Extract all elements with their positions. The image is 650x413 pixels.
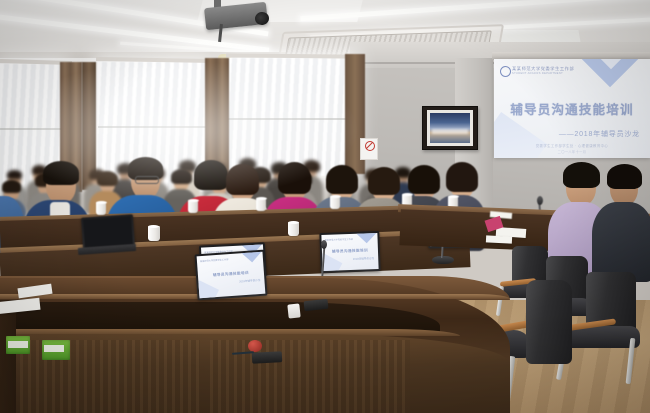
picture-image [430,113,470,143]
slide-logo-text: 某某师范大学党委学生工作部 [324,237,353,242]
paper-cup [288,222,299,236]
university-logo-icon [500,66,511,77]
paper-cup [256,198,266,211]
window-sash [0,128,64,130]
laptop-slide-subtitle: 2018年辅导员沙龙 [322,256,374,262]
microphone-head-icon [321,240,327,249]
tissue-box [6,336,30,354]
laptop-screen: 某某师范大学党委学生工作部 辅导员沟通技能培训 2018年辅导员沙龙 [197,252,266,299]
slide-chevron-graphic [356,233,376,243]
laptop-slide-subtitle: 2018年辅导员沙龙 [198,278,260,286]
microphone-head-icon [537,196,543,205]
laptop-screen [83,216,133,247]
podium-panel-grain [210,340,410,413]
window-sash [228,118,352,120]
conference-room-photo: 某某师范大学党委学生工作部 STUDENT AFFAIRS DEPARTMENT… [0,0,650,413]
slide-logo-text: 某某师范大学党委学生工作部 [200,257,229,263]
podium-shelf-cavity [10,302,440,332]
laptop-center-right[interactable]: 某某师范大学党委学生工作部 辅导员沟通技能培训 2018年辅导员沙龙 [319,231,380,273]
window-sash [98,126,210,128]
podium-leg [0,300,16,413]
laptop-screen: 某某师范大学党委学生工作部 辅导员沟通技能培训 2018年辅导员沙龙 [321,233,378,271]
remote-control-white[interactable] [287,303,300,318]
tissue-box [42,340,70,360]
tissue-box-label [8,341,28,348]
hair [607,164,642,189]
torso [592,202,650,282]
paper-cup [96,202,106,215]
framed-landscape-photograph [422,106,478,150]
tissue-box-label [44,345,64,352]
slide-title: 辅导员沟通技能培训 [494,99,650,118]
document-paper [486,235,512,243]
projection-screen: 某某师范大学党委学生工作部 STUDENT AFFAIRS DEPARTMENT… [494,59,650,158]
laptop-slide-title: 辅导员沟通技能培训 [322,248,378,255]
slide-subtitle: ——2018年辅导员沙龙 [494,129,640,139]
hair [226,164,259,195]
laptop-slide-title: 辅导员沟通技能培训 [198,269,264,279]
hair [563,162,600,188]
hair [43,161,79,185]
slide-footer-line1: 党委学生工作部学生处 · 心理健康教育中心 [494,143,650,148]
remote-control-black[interactable] [252,351,283,364]
paper-cup [188,200,198,213]
red-ball [248,340,262,352]
hair [194,160,228,190]
paper-cup [330,196,340,209]
slide-chevron-graphic [242,252,262,263]
laptop-front-left[interactable]: 某某师范大学党委学生工作部 辅导员沟通技能培训 2018年辅导员沙龙 [194,250,267,301]
slide-logo-subtext: STUDENT AFFAIRS DEPARTMENT [512,72,563,75]
paper-cup [148,226,160,241]
hair [278,162,311,194]
